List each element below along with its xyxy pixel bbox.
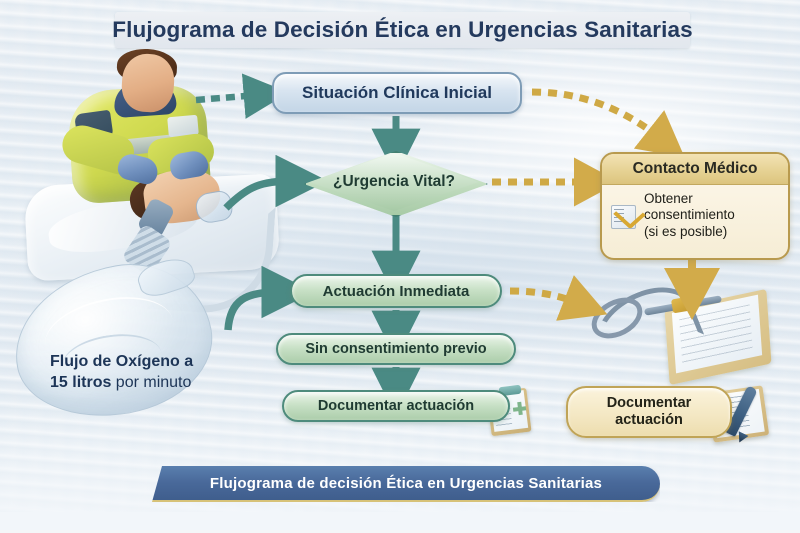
node-label: ¿Urgencia Vital? bbox=[304, 173, 484, 191]
footer-text: Flujograma de decisión Ética en Urgencia… bbox=[210, 475, 602, 492]
panel-label: Documentar actuación bbox=[607, 395, 692, 429]
panel-contacto-medico[interactable]: Contacto Médico Obtener consentimiento (… bbox=[600, 152, 790, 260]
flow-node-situacion-clinica-inicial[interactable]: Situación Clínica Inicial bbox=[272, 72, 522, 114]
node-label: Situación Clínica Inicial bbox=[302, 83, 492, 103]
flow-node-urgencia-vital[interactable]: ¿Urgencia Vital? bbox=[304, 151, 484, 213]
caption-line-1-text: Flujo de Oxígeno a bbox=[50, 353, 193, 370]
consent-line-1: Obtener bbox=[644, 191, 693, 206]
oxygen-flow-caption: Flujo de Oxígeno a 15 litros por minuto bbox=[50, 352, 280, 394]
infographic-poster: Flujograma de Decisión Ética en Urgencia… bbox=[0, 0, 800, 533]
caption-per-minute: por minuto bbox=[111, 374, 191, 391]
node-label: Actuación Inmediata bbox=[323, 283, 470, 300]
connector-oxygen-to-urgencia bbox=[226, 181, 292, 208]
doc-gold-line-1: Documentar bbox=[607, 395, 692, 411]
consent-line-3: (si es posible) bbox=[644, 224, 727, 239]
caption-line-2: 15 litros por minuto bbox=[50, 373, 280, 394]
connector-illustration-to-situacion bbox=[196, 95, 258, 100]
footer-banner: Flujograma de decisión Ética en Urgencia… bbox=[152, 466, 660, 502]
connector-situacion-to-right bbox=[532, 92, 660, 138]
doc-gold-line-2: actuación bbox=[615, 412, 683, 428]
connector-actuacion-to-right bbox=[510, 291, 578, 303]
flow-node-actuacion-inmediata[interactable]: Actuación Inmediata bbox=[290, 274, 502, 308]
node-label: Sin consentimiento previo bbox=[305, 341, 486, 357]
panel-documentar-actuacion-gold[interactable]: Documentar actuación bbox=[566, 386, 732, 438]
flow-node-documentar-actuacion[interactable]: Documentar actuación bbox=[282, 390, 510, 422]
caption-line-1: Flujo de Oxígeno a bbox=[50, 352, 280, 373]
panel-body-text: Obtener consentimiento (si es posible) bbox=[644, 191, 735, 240]
panel-body: Obtener consentimiento (si es posible) bbox=[602, 185, 788, 246]
panel-header: Contacto Médico bbox=[602, 154, 788, 185]
caption-liters-value: 15 litros bbox=[50, 374, 111, 391]
flow-node-sin-consentimiento-previo[interactable]: Sin consentimiento previo bbox=[276, 333, 516, 365]
checkbox-document-icon bbox=[611, 203, 637, 229]
connector-oxygen-to-actuacion bbox=[228, 292, 278, 330]
panel-header-label: Contacto Médico bbox=[633, 160, 758, 178]
consent-line-2: consentimiento bbox=[644, 207, 735, 222]
node-label: Documentar actuación bbox=[318, 398, 474, 414]
